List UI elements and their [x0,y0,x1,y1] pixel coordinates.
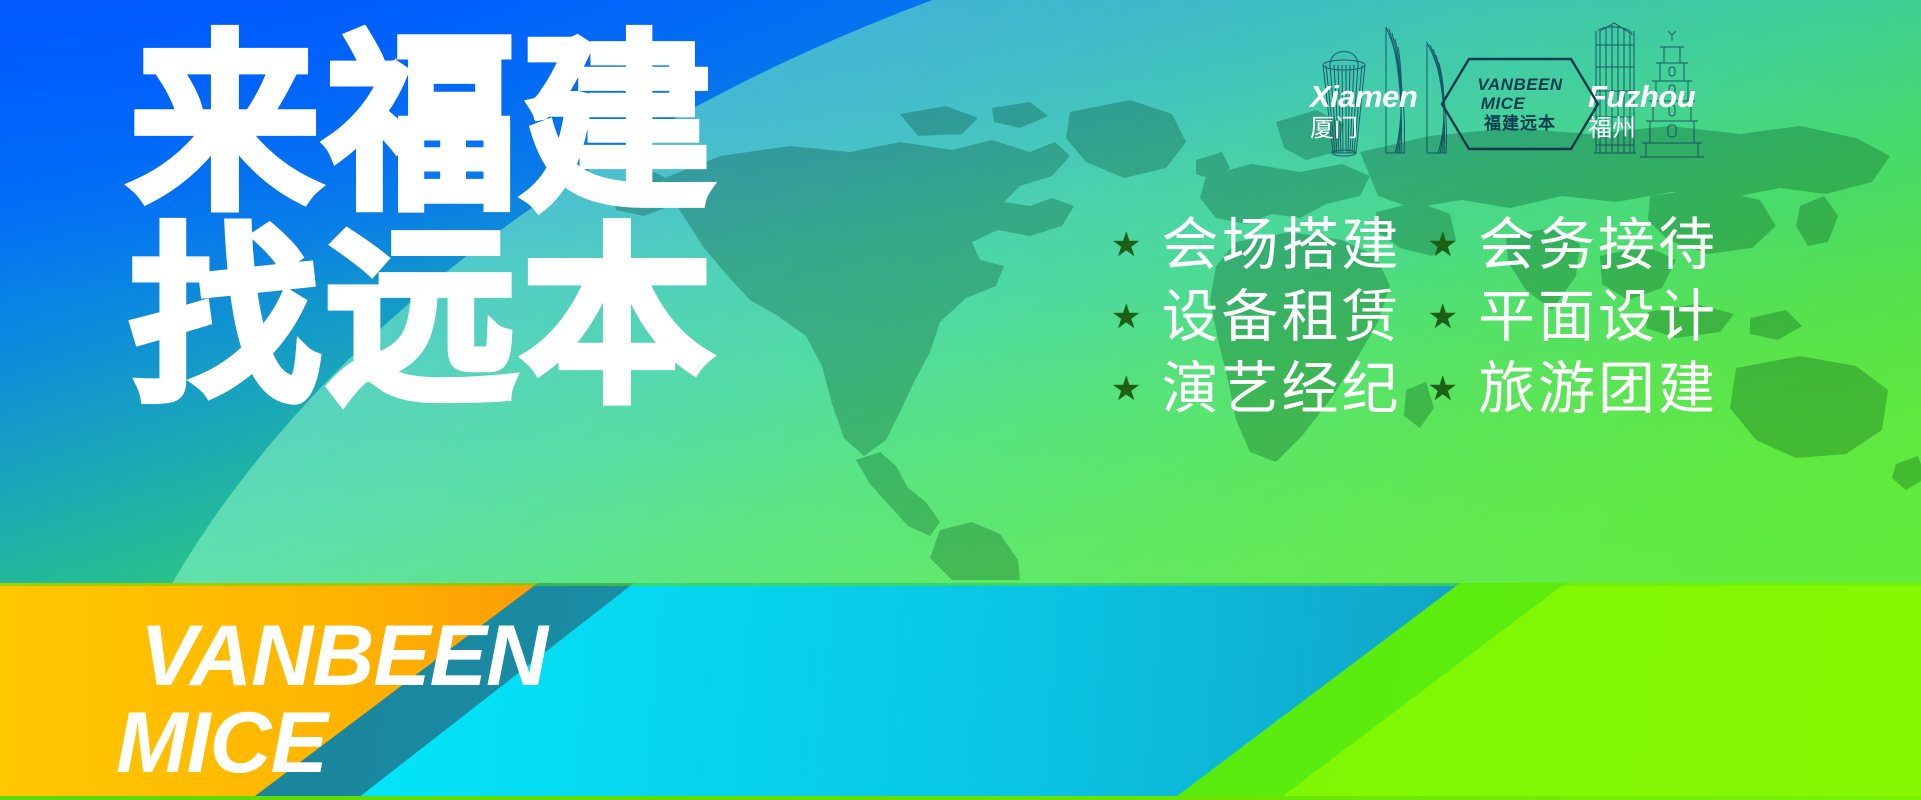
headline-line-2: 找远本 [130,231,718,408]
star-icon: ★ [1111,300,1141,334]
star-icon: ★ [1111,372,1141,406]
brand-wordmark: VANBEEN MICE [140,617,547,783]
service-item[interactable]: ★ 会务接待 [1421,212,1723,278]
hexlogo-line-3: 福建远本 [1484,116,1556,133]
bottom-brand-bar: VANBEEN MICE [0,583,1921,800]
services-list: ★ 会场搭建 ★ 会务接待 ★ 设备租赁 ★ 平面设计 ★ 演艺经纪 ★ 旅游团… [1105,212,1724,422]
bar-top-edge [0,583,1921,586]
service-label: 设备租赁 [1161,284,1401,350]
city-landmarks-cluster: Xiamen 厦门 Fuzhou 福州 VANBEEN MICE 福建远本 [1300,5,1750,170]
hexlogo-line-2: MICE [1481,95,1526,112]
city-name-en: Xiamen [1310,81,1417,112]
hexlogo-line-1: VANBEEN [1477,76,1562,93]
service-label: 平面设计 [1478,284,1718,350]
service-label: 旅游团建 [1478,356,1718,422]
service-label: 会务接待 [1478,212,1718,278]
brand-line-1: VANBEEN [140,617,547,696]
bar-bottom-edge [0,796,1921,800]
city-name-cn: 福州 [1588,116,1695,140]
brand-line-2: MICE [116,704,547,783]
service-item[interactable]: ★ 旅游团建 [1421,356,1723,422]
headline: 来福建 找远本 [130,38,718,407]
service-label: 会场搭建 [1161,212,1401,278]
star-icon: ★ [1427,228,1457,262]
city-label-xiamen: Xiamen 厦门 [1310,81,1417,140]
star-icon: ★ [1427,300,1457,334]
promotional-banner: 来福建 找远本 ★ 会场搭建 ★ 会务接待 ★ 设备租赁 ★ 平面设计 ★ [0,0,1921,800]
service-label: 演艺经纪 [1161,356,1401,422]
city-name-en: Fuzhou [1588,81,1695,112]
service-item[interactable]: ★ 演艺经纪 [1105,356,1407,422]
star-icon: ★ [1111,228,1141,262]
star-icon: ★ [1427,372,1457,406]
city-name-cn: 厦门 [1310,116,1417,140]
city-label-fuzhou: Fuzhou 福州 [1588,81,1695,140]
banner-stage: 来福建 找远本 ★ 会场搭建 ★ 会务接待 ★ 设备租赁 ★ 平面设计 ★ [0,0,1921,583]
service-item[interactable]: ★ 设备租赁 [1105,284,1407,350]
service-item[interactable]: ★ 平面设计 [1421,284,1723,350]
vanbeen-hexagon-logo[interactable]: VANBEEN MICE 福建远本 [1440,57,1600,151]
service-item[interactable]: ★ 会场搭建 [1105,212,1407,278]
headline-line-1: 来福建 [130,38,718,215]
